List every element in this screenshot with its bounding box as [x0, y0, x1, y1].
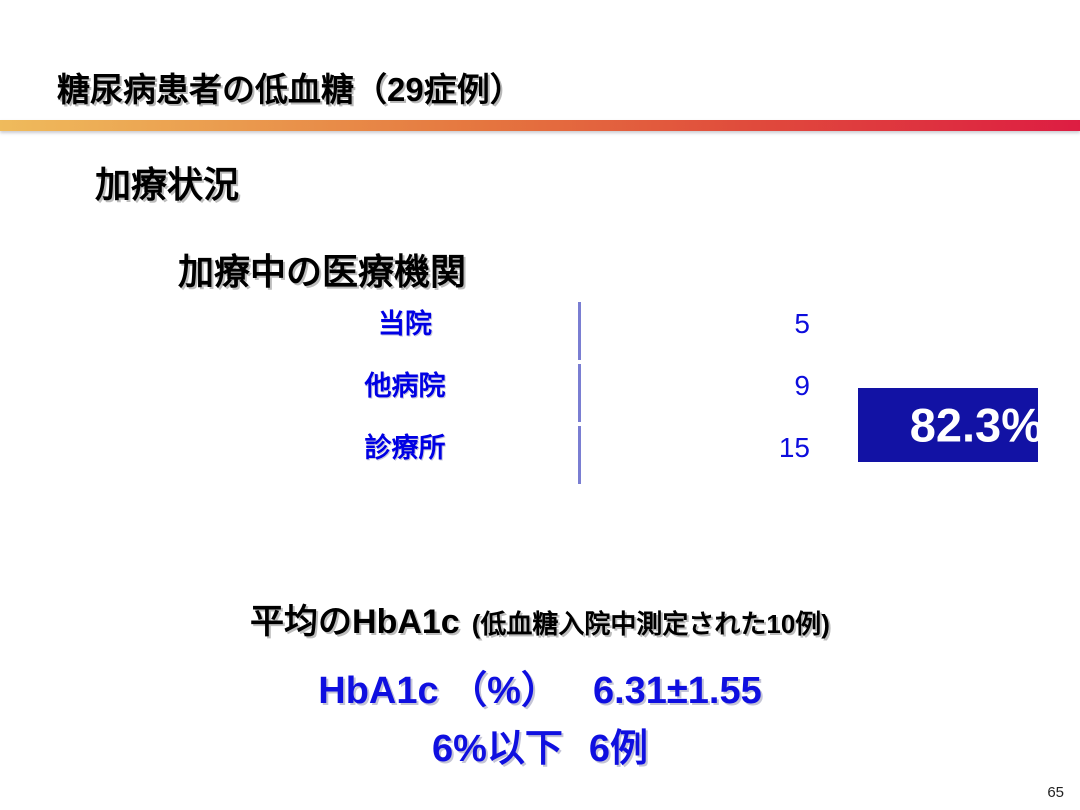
hba1c-heading-note: (低血糖入院中測定された10例) — [472, 609, 830, 639]
hba1c-threshold-count: 6例 — [589, 728, 648, 770]
slide-canvas: 糖尿病患者の低血糖（29症例） 加療状況 加療中の医療機関 当院 5 他病院 9… — [0, 0, 1080, 810]
hba1c-threshold-label: 6%以下 — [432, 728, 563, 770]
hba1c-heading: 平均のHbA1c(低血糖入院中測定された10例) — [0, 594, 1080, 643]
column-divider — [578, 302, 581, 360]
table-row: 他病院 9 — [280, 364, 820, 426]
page-title: 糖尿病患者の低血糖（29症例） — [57, 63, 523, 111]
hba1c-value-label: HbA1c （%） — [318, 670, 559, 712]
title-divider-rule — [0, 120, 1080, 131]
hba1c-value-number: 6.31±1.55 — [593, 670, 762, 712]
facility-count: 9 — [660, 364, 810, 408]
facility-label: 診療所 — [280, 426, 530, 470]
hba1c-heading-main: 平均のHbA1c — [250, 603, 460, 641]
facility-count: 5 — [660, 302, 810, 346]
facility-count: 15 — [660, 426, 810, 470]
table-row: 診療所 15 — [280, 426, 820, 488]
section-heading: 加療状況 — [95, 156, 239, 208]
subsection-heading: 加療中の医療機関 — [178, 243, 466, 295]
facility-table: 当院 5 他病院 9 診療所 15 — [280, 300, 820, 490]
hba1c-value-line: HbA1c （%）6.31±1.55 — [0, 659, 1080, 714]
percentage-callout-value: 82.3% — [858, 402, 1038, 449]
column-divider — [578, 364, 581, 422]
hba1c-sub-line: 6%以下6例 — [0, 717, 1080, 772]
facility-label: 当院 — [280, 302, 530, 346]
facility-label: 他病院 — [280, 364, 530, 408]
percentage-callout-box: 82.3% — [858, 388, 1038, 462]
page-number: 65 — [1047, 784, 1064, 801]
table-row: 当院 5 — [280, 302, 820, 364]
column-divider — [578, 426, 581, 484]
